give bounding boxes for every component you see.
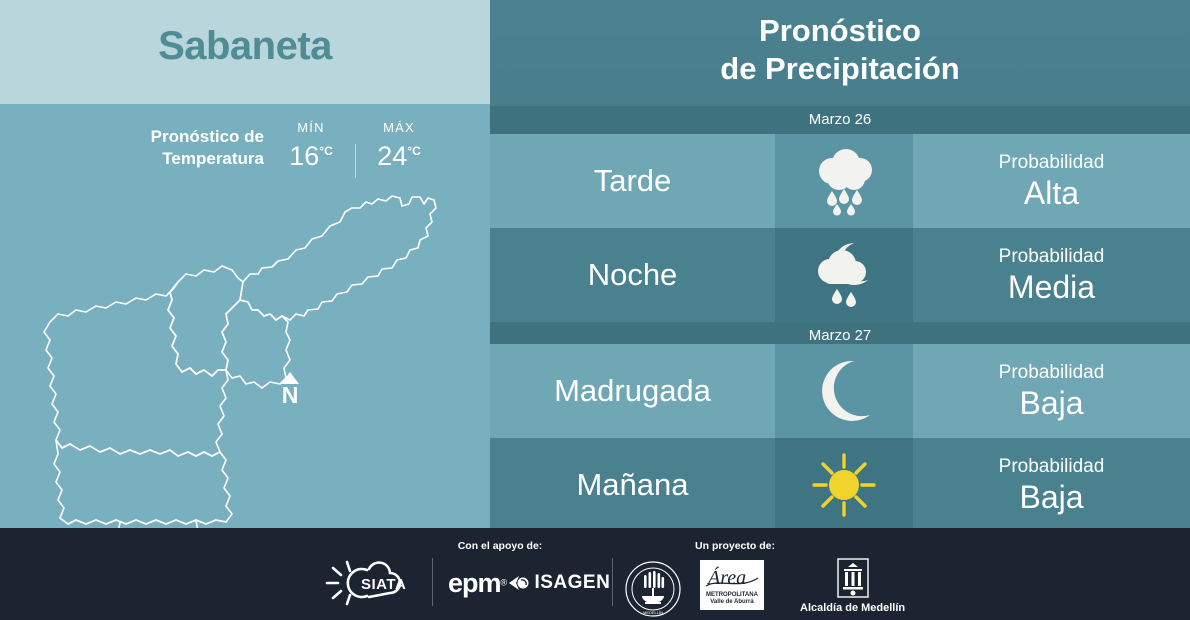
- rain-cloud-icon: [806, 145, 882, 217]
- alcaldia-medellin-logo[interactable]: Alcaldía de Medellín: [800, 558, 905, 614]
- area-metropolitana-logo[interactable]: Área METROPOLITANA Valle de Aburrá: [700, 560, 764, 610]
- temperature-max-label: MÁX: [360, 120, 438, 135]
- siata-logo[interactable]: SIATA: [325, 558, 429, 613]
- icon-cell-tarde: [775, 134, 913, 228]
- footer-divider-1: [432, 558, 433, 606]
- universidad-nacional-logo[interactable]: MEDELLÍN: [624, 560, 682, 620]
- period-cell-manana: Mañana: [490, 438, 775, 532]
- forecast-row-manana: Mañana Pr: [490, 438, 1190, 532]
- siata-wordmark: SIATA: [361, 576, 406, 593]
- epm-logo[interactable]: epm®: [448, 568, 507, 599]
- probability-word: Probabilidad: [999, 151, 1105, 175]
- probability-word: Probabilidad: [999, 361, 1105, 385]
- temperature-max-unit: °C: [407, 144, 420, 158]
- probability-cell-noche: Probabilidad Media: [913, 228, 1190, 322]
- period-label: Tarde: [594, 163, 672, 199]
- date-band-march-26: Marzo 26: [490, 106, 1190, 134]
- period-label: Mañana: [576, 467, 688, 503]
- period-label: Madrugada: [554, 373, 711, 409]
- probability-level: Media: [1008, 269, 1095, 305]
- probability-cell-manana: Probabilidad Baja: [913, 438, 1190, 532]
- area-subtitle-1: METROPOLITANA: [700, 592, 764, 599]
- forecast-row-madrugada: Madrugada Probabilidad Baja: [490, 344, 1190, 438]
- isagen-wordmark: ISAGEN: [534, 572, 610, 593]
- precipitation-panel: Pronóstico de Precipitación Marzo 26 Tar…: [490, 0, 1190, 528]
- area-subtitle-2: Valle de Aburrá: [700, 599, 764, 606]
- icon-cell-manana: [775, 438, 913, 532]
- precipitation-title-line2: de Precipitación: [490, 50, 1190, 88]
- precipitation-title-line1: Pronóstico: [490, 12, 1190, 50]
- alcaldia-label: Alcaldía de Medellín: [800, 602, 905, 614]
- forecast-row-tarde: Tarde: [490, 134, 1190, 228]
- precipitation-header: Pronóstico de Precipitación: [490, 0, 1190, 106]
- unal-seal-text: MEDELLÍN: [643, 610, 663, 615]
- temperature-min-unit: °C: [319, 144, 332, 158]
- epm-wordmark: epm: [448, 568, 501, 598]
- period-cell-madrugada: Madrugada: [490, 344, 775, 438]
- probability-word: Probabilidad: [999, 455, 1105, 479]
- area-wordmark: Área: [706, 566, 746, 589]
- probability-cell-tarde: Probabilidad Alta: [913, 134, 1190, 228]
- city-header-band: Sabaneta: [0, 0, 490, 104]
- sun-icon: [808, 449, 880, 521]
- isagen-logo[interactable]: ISAGEN: [508, 572, 610, 594]
- temperature-min-label: MÍN: [272, 120, 350, 135]
- epm-registered-mark: ®: [501, 578, 508, 588]
- icon-cell-noche: [775, 228, 913, 322]
- temperature-title-line1: Pronóstico de: [72, 126, 264, 148]
- period-label: Noche: [588, 257, 678, 293]
- compass-label: N: [272, 383, 308, 407]
- isagen-mark-icon: [508, 574, 530, 592]
- probability-cell-madrugada: Probabilidad Baja: [913, 344, 1190, 438]
- period-cell-noche: Noche: [490, 228, 775, 322]
- left-panel: Sabaneta Pronóstico de Temperatura MÍN 1…: [0, 0, 490, 528]
- probability-word: Probabilidad: [999, 245, 1105, 269]
- moon-icon: [812, 359, 876, 423]
- forecast-row-noche: Noche Probabilidad Media: [490, 228, 1190, 322]
- probability-level: Alta: [1024, 175, 1079, 211]
- probability-level: Baja: [1019, 479, 1083, 515]
- footer-divider-2: [612, 558, 613, 606]
- compass-north-indicator: N: [272, 372, 308, 407]
- project-caption: Un proyecto de:: [630, 540, 840, 552]
- period-cell-tarde: Tarde: [490, 134, 775, 228]
- probability-level: Baja: [1019, 385, 1083, 421]
- moon-rain-cloud-icon: [806, 239, 882, 311]
- map-area: Pronóstico de Temperatura MÍN 16°C MÁX 2…: [0, 104, 490, 528]
- valle-de-aburra-map: [0, 164, 490, 528]
- icon-cell-madrugada: [775, 344, 913, 438]
- support-caption: Con el apoyo de:: [400, 540, 600, 552]
- city-name: Sabaneta: [0, 24, 490, 69]
- precipitation-title: Pronóstico de Precipitación: [490, 12, 1190, 88]
- weather-forecast-graphic: Sabaneta Pronóstico de Temperatura MÍN 1…: [0, 0, 1190, 620]
- footer: Con el apoyo de: Un proyecto de: SIATA e: [0, 528, 1190, 620]
